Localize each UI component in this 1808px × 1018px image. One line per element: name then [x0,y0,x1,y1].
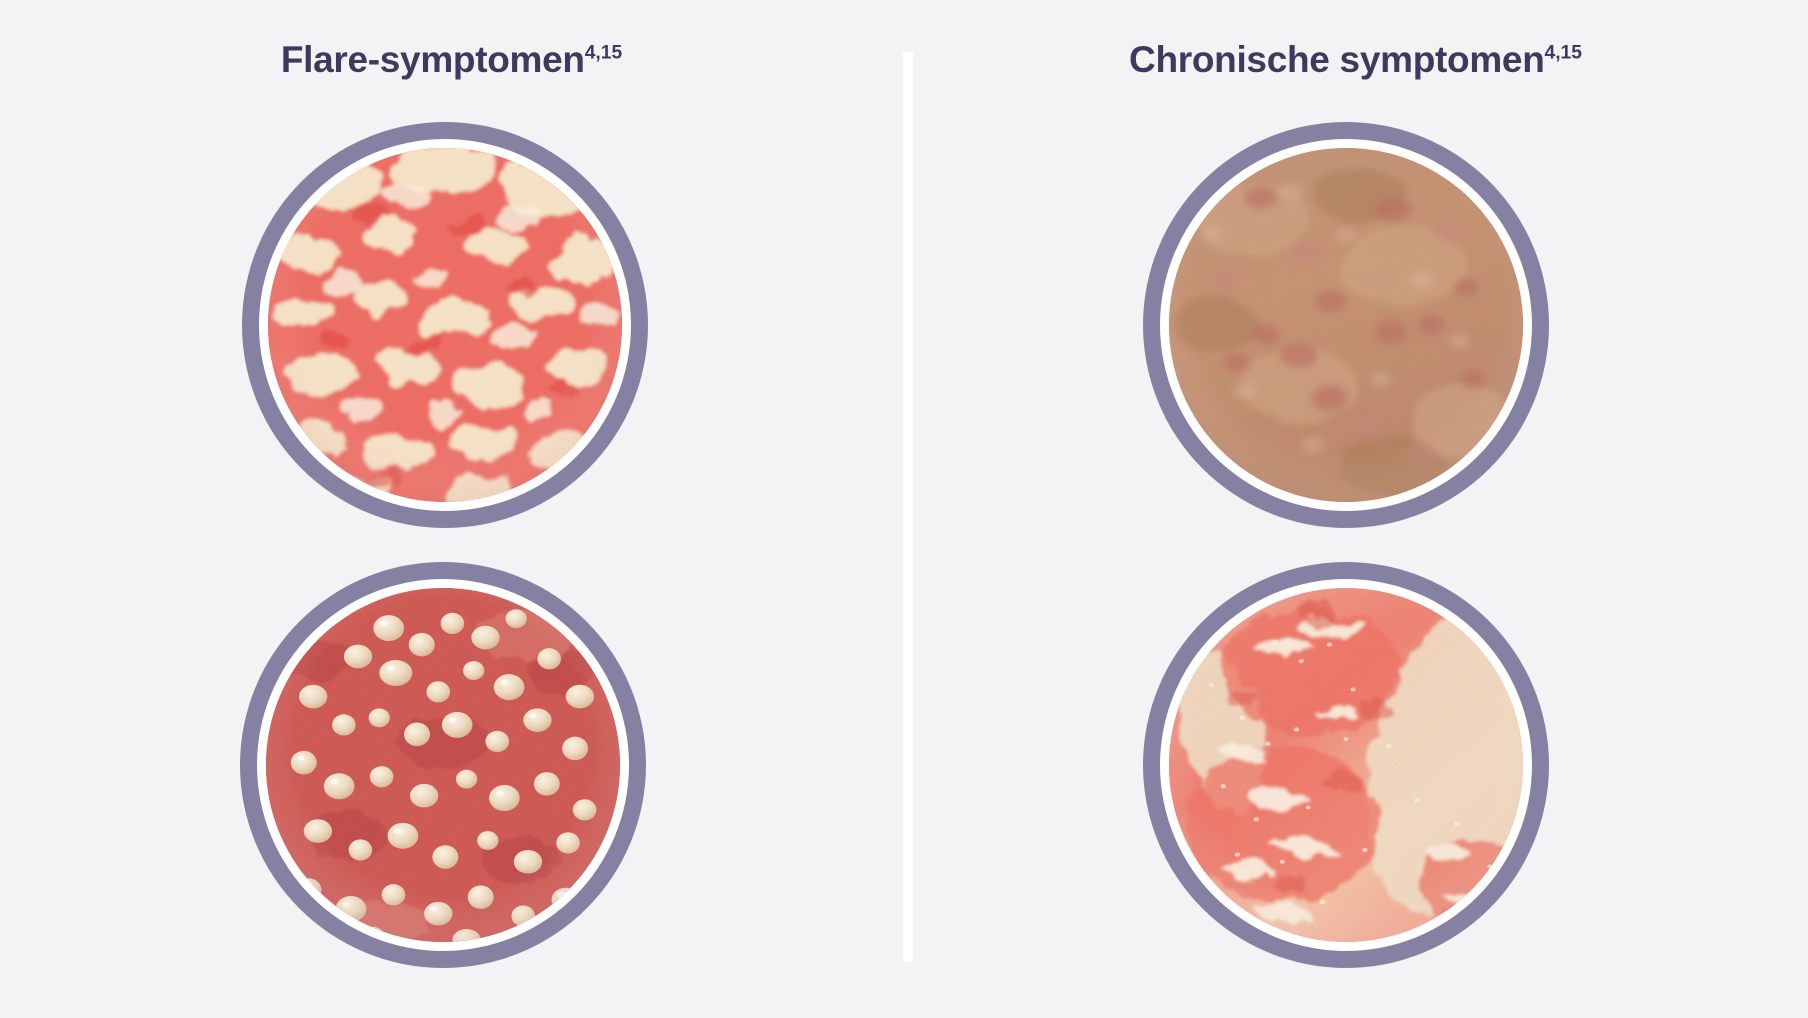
column-divider [903,52,913,962]
flare-photo-bottom-circle: Flare-symptomen: talrijke bleke pustels … [240,562,646,968]
chronic-photo-top-image: Chronische symptomen: bruine huid met su… [1169,148,1523,502]
chronic-photo-top-ring-gap: Chronische symptomen: bruine huid met su… [1160,139,1532,511]
column-title-flare-text: Flare-symptomen [281,39,585,80]
column-title-flare-reference: 4,15 [585,43,622,64]
chronic-photo-bottom-circle: Chronische symptomen: rode plaque met sc… [1143,562,1549,968]
chronic-photo-bottom-image: Chronische symptomen: rode plaque met sc… [1169,588,1523,942]
column-title-chronic: Chronische symptomen4,15 [903,38,1808,82]
comparison-figure: Flare-symptomen4,15 Chronische symptomen… [0,0,1808,1018]
column-title-chronic-text: Chronische symptomen [1129,39,1544,80]
chronic-photo-top-circle: Chronische symptomen: bruine huid met su… [1143,122,1549,528]
column-title-flare: Flare-symptomen4,15 [0,38,903,82]
flare-photo-bottom-image: Flare-symptomen: talrijke bleke pustels … [266,588,620,942]
chronic-photo-bottom-ring-gap: Chronische symptomen: rode plaque met sc… [1160,579,1532,951]
flare-photo-top-circle: Flare-symptomen: intens rode huid met bl… [242,122,648,528]
flare-photo-top-image: Flare-symptomen: intens rode huid met bl… [268,148,622,502]
column-title-chronic-reference: 4,15 [1545,43,1582,64]
flare-photo-bottom-ring-gap: Flare-symptomen: talrijke bleke pustels … [257,579,629,951]
flare-photo-top-ring-gap: Flare-symptomen: intens rode huid met bl… [259,139,631,511]
